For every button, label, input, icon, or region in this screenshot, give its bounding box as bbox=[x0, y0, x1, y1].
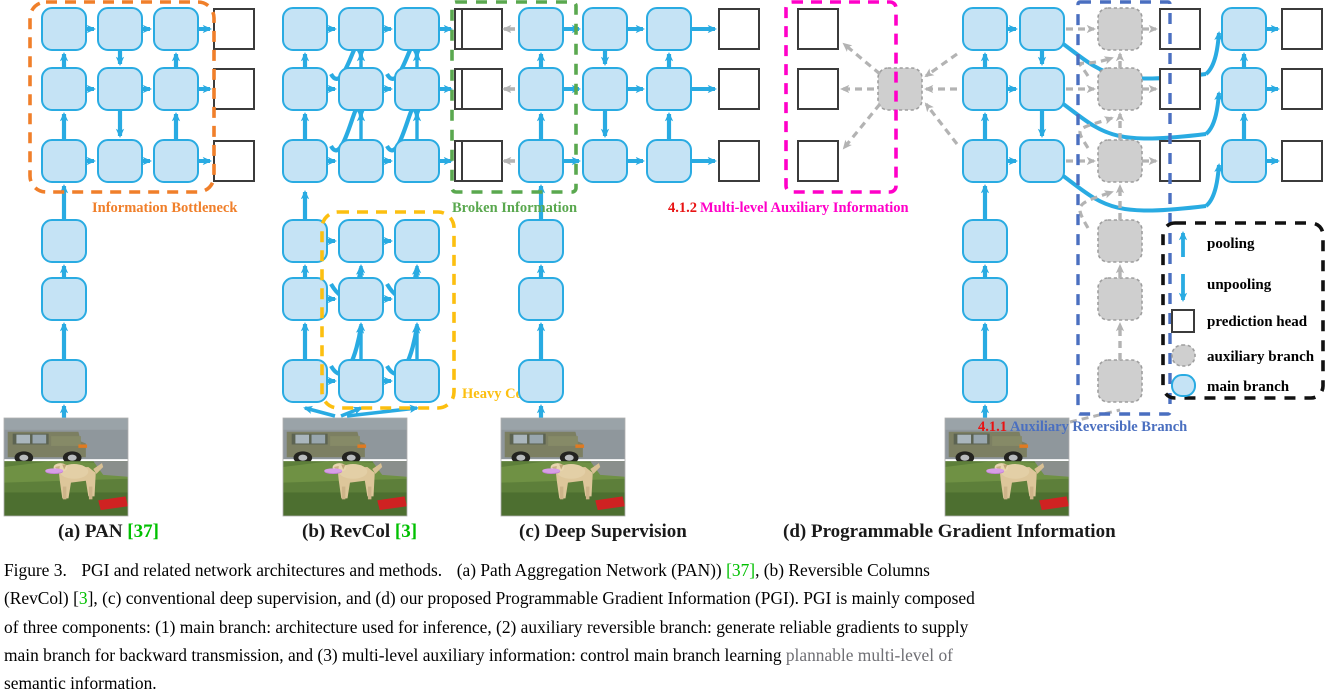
main-branch-block bbox=[963, 360, 1007, 402]
main-branch-block bbox=[1020, 140, 1064, 182]
main-branch-block bbox=[42, 220, 86, 262]
caption-line-1: Figure 3.PGI and related network archite… bbox=[4, 556, 1328, 584]
reversible-sweep-arrow-icon bbox=[1206, 33, 1219, 74]
legend-label-unpooling: unpooling bbox=[1207, 277, 1272, 293]
input-image-thumbnail bbox=[501, 418, 625, 516]
prediction-head-block bbox=[1282, 141, 1322, 181]
main-branch-block bbox=[519, 140, 563, 182]
main-branch-block bbox=[963, 140, 1007, 182]
main-branch-block bbox=[1222, 68, 1266, 110]
input-image-thumbnail bbox=[4, 418, 128, 516]
panel-title-c: (c) Deep Supervision bbox=[519, 521, 687, 543]
prediction-head-block bbox=[798, 9, 838, 49]
main-branch-block bbox=[647, 8, 691, 50]
auxiliary-branch-block bbox=[1098, 8, 1142, 50]
main-branch-block bbox=[583, 68, 627, 110]
legend-main-branch-swatch bbox=[1172, 375, 1195, 396]
legend-label-main-branch: main branch bbox=[1207, 379, 1290, 395]
prediction-head-block bbox=[462, 69, 502, 109]
architecture-diagram: Information BottleneckHeavy CostBroken I… bbox=[0, 0, 1332, 520]
prediction-head-block bbox=[1282, 69, 1322, 109]
main-branch-block bbox=[395, 360, 439, 402]
auxiliary-branch-block bbox=[1098, 220, 1142, 262]
auxiliary-branch-block bbox=[1098, 360, 1142, 402]
citation-37[interactable]: [37] bbox=[127, 521, 159, 542]
prediction-head-block bbox=[719, 9, 759, 49]
main-branch-block bbox=[395, 140, 439, 182]
auxiliary-branch-block bbox=[878, 68, 922, 110]
auxiliary-branch-block bbox=[1098, 278, 1142, 320]
prediction-head-block bbox=[462, 141, 502, 181]
broken-information-label: Broken Information bbox=[452, 200, 577, 216]
main-branch-block bbox=[963, 278, 1007, 320]
main-branch-block bbox=[963, 220, 1007, 262]
main-branch-block bbox=[42, 360, 86, 402]
prediction-head-block bbox=[1160, 9, 1200, 49]
main-branch-block bbox=[395, 68, 439, 110]
main-branch-block bbox=[395, 220, 439, 262]
main-branch-block bbox=[963, 68, 1007, 110]
main-branch-block bbox=[154, 140, 198, 182]
main-branch-block bbox=[519, 8, 563, 50]
prediction-head-block bbox=[798, 69, 838, 109]
input-image-thumbnail bbox=[283, 418, 407, 516]
main-branch-block bbox=[98, 140, 142, 182]
main-branch-block bbox=[42, 68, 86, 110]
main-branch-block bbox=[339, 140, 383, 182]
caption-line-2: (RevCol) [3], (c) conventional deep supe… bbox=[4, 584, 1328, 612]
main-branch-block bbox=[1020, 68, 1064, 110]
main-branch-block bbox=[1222, 140, 1266, 182]
main-branch-block bbox=[154, 68, 198, 110]
main-branch-block bbox=[963, 8, 1007, 50]
main-branch-block bbox=[283, 8, 327, 50]
reversible-sweep-arrow-icon bbox=[1206, 93, 1219, 134]
auxiliary-reversible-branch-label: Auxiliary Reversible Branch bbox=[1010, 419, 1187, 435]
panel-title-a: (a) PAN [37] bbox=[58, 521, 159, 543]
prediction-head-block bbox=[462, 9, 502, 49]
main-branch-block bbox=[98, 8, 142, 50]
main-branch-block bbox=[154, 8, 198, 50]
main-branch-block bbox=[339, 278, 383, 320]
main-branch-block bbox=[647, 140, 691, 182]
figure-diagram: Information BottleneckHeavy CostBroken I… bbox=[0, 0, 1332, 520]
caption-citation-3[interactable]: 3 bbox=[79, 588, 88, 608]
legend-label-pooling: pooling bbox=[1207, 236, 1255, 252]
main-branch-block bbox=[42, 8, 86, 50]
main-branch-block bbox=[583, 8, 627, 50]
main-branch-block bbox=[339, 220, 383, 262]
auxiliary-branch-block bbox=[1098, 140, 1142, 182]
main-branch-block bbox=[395, 8, 439, 50]
main-branch-block bbox=[519, 360, 563, 402]
auxiliary-branch-block bbox=[1098, 68, 1142, 110]
main-branch-block bbox=[339, 360, 383, 402]
prediction-head-block bbox=[214, 9, 254, 49]
prediction-head-block bbox=[719, 69, 759, 109]
main-branch-block bbox=[519, 68, 563, 110]
prediction-head-block bbox=[1160, 141, 1200, 181]
main-branch-block bbox=[519, 278, 563, 320]
prediction-head-block bbox=[1160, 69, 1200, 109]
main-branch-block bbox=[42, 140, 86, 182]
auxiliary-info-arrow-icon bbox=[844, 44, 880, 74]
main-branch-block bbox=[1222, 8, 1266, 50]
caption-citation-37[interactable]: [37] bbox=[726, 560, 755, 580]
figure-caption: Figure 3.PGI and related network archite… bbox=[4, 556, 1328, 697]
input-feed-arrow-icon bbox=[305, 408, 335, 416]
main-branch-block bbox=[647, 68, 691, 110]
panel-title-b: (b) RevCol [3] bbox=[302, 521, 417, 543]
prediction-head-block bbox=[719, 141, 759, 181]
panel-titles: (a) PAN [37] (b) RevCol [3] (c) Deep Sup… bbox=[0, 521, 1332, 553]
main-branch-block bbox=[42, 278, 86, 320]
multi-level-section-number: 4.1.2 bbox=[668, 200, 697, 216]
caption-line-4: main branch for backward transmission, a… bbox=[4, 641, 1328, 669]
main-branch-block bbox=[339, 8, 383, 50]
reversible-section-number: 4.1.1 bbox=[978, 419, 1007, 435]
main-branch-block bbox=[395, 278, 439, 320]
caption-line-5: semantic information. bbox=[4, 669, 1328, 697]
reversible-sweep-arrow-icon bbox=[1206, 165, 1219, 206]
auxiliary-info-arrow-icon bbox=[926, 54, 957, 76]
prediction-head-block bbox=[1282, 9, 1322, 49]
auxiliary-info-arrow-icon bbox=[926, 104, 957, 144]
auxiliary-info-arrow-icon bbox=[844, 104, 880, 148]
multi-level-auxiliary-label: Multi-level Auxiliary Information bbox=[700, 200, 909, 216]
main-branch-block bbox=[519, 220, 563, 262]
main-branch-block bbox=[283, 68, 327, 110]
legend-label-auxiliary-branch: auxiliary branch bbox=[1207, 349, 1315, 365]
main-branch-block bbox=[339, 68, 383, 110]
information-bottleneck-label: Information Bottleneck bbox=[92, 200, 238, 216]
prediction-head-block bbox=[798, 141, 838, 181]
prediction-head-block bbox=[1172, 310, 1194, 332]
citation-3[interactable]: [3] bbox=[395, 521, 417, 542]
auxiliary-branch-block bbox=[1172, 345, 1195, 366]
prediction-head-block bbox=[214, 141, 254, 181]
prediction-head-block bbox=[214, 69, 254, 109]
main-branch-block bbox=[583, 140, 627, 182]
main-branch-block bbox=[98, 68, 142, 110]
caption-line-3: of three components: (1) main branch: ar… bbox=[4, 613, 1328, 641]
main-branch-block bbox=[283, 140, 327, 182]
main-branch-block bbox=[1020, 8, 1064, 50]
panel-title-d: (d) Programmable Gradient Information bbox=[783, 521, 1116, 543]
legend-label-prediction-head: prediction head bbox=[1207, 314, 1308, 330]
